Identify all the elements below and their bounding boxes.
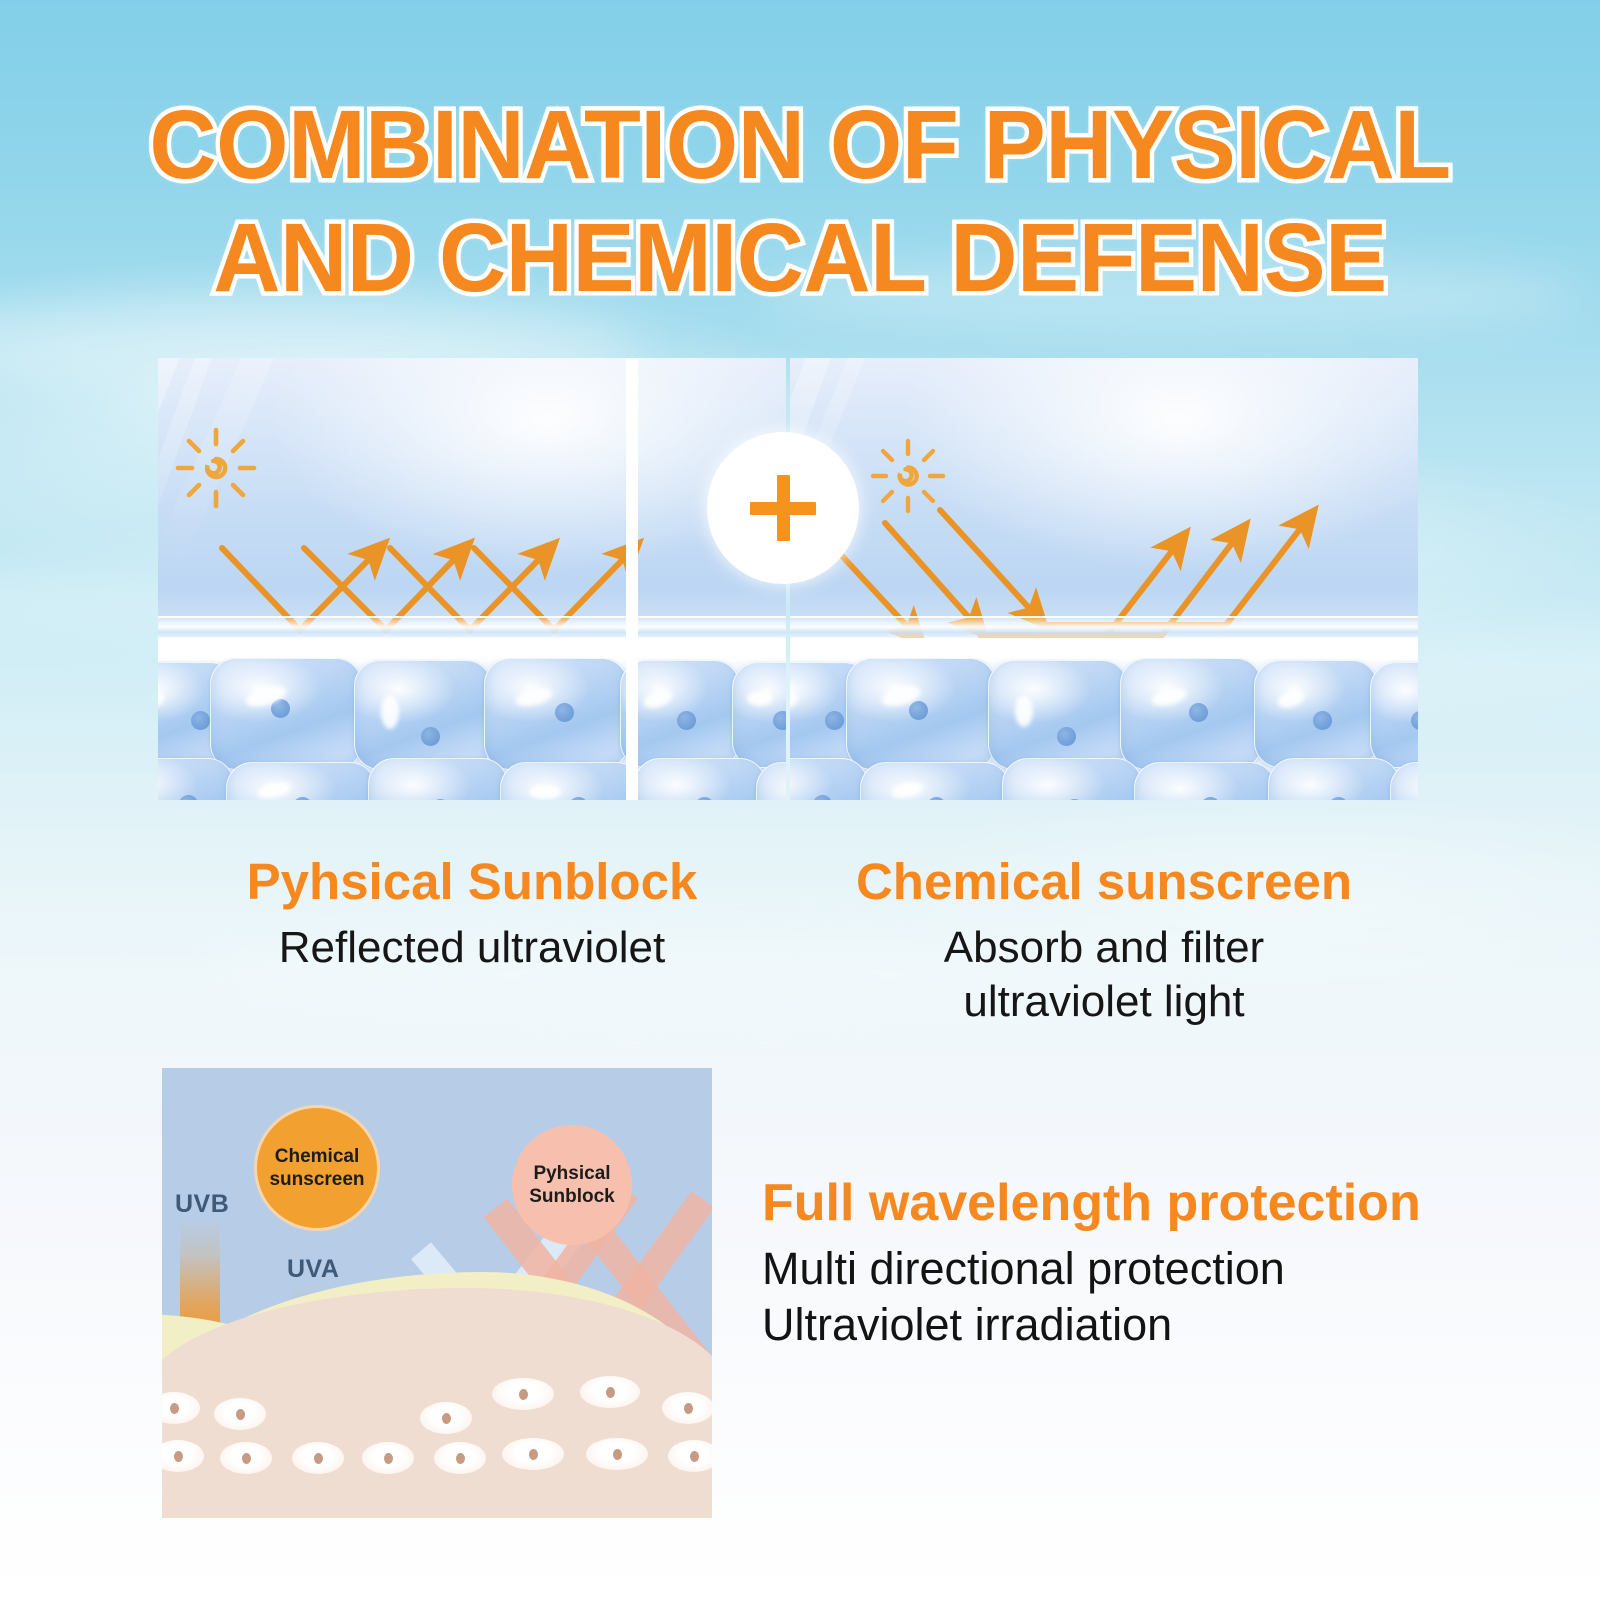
sunscreen-film-surface (158, 616, 786, 638)
dermis-cell (502, 1438, 564, 1470)
skin-cell (500, 762, 642, 800)
dermis-cell (668, 1440, 712, 1472)
skin-cell-layer (158, 658, 786, 800)
skin-cell (988, 660, 1128, 770)
page-title: COMBINATION OF PHYSICAL AND CHEMICAL DEF… (0, 96, 1600, 306)
uvb-label: UVB (175, 1190, 229, 1219)
film-gap (158, 638, 786, 660)
chemical-sunscreen-caption: Chemical sunscreen Absorb and filter ult… (790, 852, 1418, 1028)
chemical-sunscreen-panel (790, 358, 1418, 800)
dermis-cell (362, 1442, 414, 1474)
info-line-2: Ultraviolet irradiation (762, 1297, 1542, 1353)
dermis-cell (162, 1440, 204, 1472)
full-wavelength-info: Full wavelength protection Multi directi… (762, 1175, 1542, 1353)
skin-cell (1134, 762, 1276, 800)
physical-marker-line-1: Pyhsical (533, 1162, 610, 1185)
physical-sunblock-caption: Pyhsical Sunblock Reflected ultraviolet (158, 852, 786, 974)
physical-sunblock-marker: Pyhsical Sunblock (512, 1125, 632, 1245)
dermis-cell (292, 1442, 344, 1474)
skin-cell (634, 758, 766, 800)
dermis-cell (420, 1402, 472, 1434)
chemical-sunscreen-subtext-line-2: ultraviolet light (790, 976, 1418, 1028)
dermis-layer (162, 1368, 712, 1518)
skin-cell (732, 662, 786, 768)
plus-icon (750, 475, 816, 541)
chemical-sunscreen-marker: Chemical sunscreen (254, 1105, 380, 1231)
skin-cell (790, 758, 868, 800)
title-line-2: AND CHEMICAL DEFENSE (32, 209, 1568, 306)
skin-cell (368, 758, 508, 800)
skin-cell (860, 762, 1010, 800)
poster-root: COMBINATION OF PHYSICAL AND CHEMICAL DEF… (0, 0, 1600, 1600)
skin-cell-layer (790, 658, 1418, 800)
title-line-1: COMBINATION OF PHYSICAL (32, 96, 1568, 193)
skin-cell (484, 658, 628, 770)
skin-cell (1254, 660, 1378, 768)
film-gap (790, 638, 1418, 660)
skin-cell (226, 762, 376, 800)
skin-cell (1268, 758, 1400, 800)
dermis-cell (162, 1392, 200, 1424)
plus-badge (707, 432, 859, 584)
info-heading: Full wavelength protection (762, 1175, 1542, 1231)
physical-sunblock-panel (158, 358, 786, 800)
chemical-marker-line-1: Chemical (275, 1145, 359, 1168)
dermis-cell (580, 1376, 640, 1408)
dermis-cell (662, 1392, 712, 1424)
skin-cell (1002, 758, 1142, 800)
physical-marker-line-2: Sunblock (529, 1185, 615, 1208)
skin-cell (158, 758, 234, 800)
physical-sunblock-heading: Pyhsical Sunblock (158, 852, 786, 912)
physical-sunblock-subtext: Reflected ultraviolet (158, 922, 786, 974)
skin-cell (1370, 662, 1418, 768)
chemical-sunscreen-heading: Chemical sunscreen (790, 852, 1418, 912)
skin-cell (210, 658, 362, 770)
skin-cell (354, 660, 492, 770)
skin-cell (620, 660, 740, 768)
uv-penetration-diagram: Chemical sunscreen Pyhsical Sunblock UVB… (162, 1068, 712, 1518)
panel-divider (626, 358, 638, 800)
dermis-cell (492, 1378, 554, 1410)
skin-cell (846, 658, 996, 770)
dermis-cell (434, 1442, 486, 1474)
info-line-1: Multi directional protection (762, 1241, 1542, 1297)
sunscreen-film-surface (790, 616, 1418, 638)
sun-spiral-icon (178, 430, 254, 506)
sun-spiral-icon (873, 441, 943, 511)
dermis-cell (214, 1398, 266, 1430)
uva-label: UVA (287, 1255, 339, 1284)
chemical-marker-line-2: sunscreen (269, 1168, 364, 1191)
chemical-sunscreen-subtext-line-1: Absorb and filter (790, 922, 1418, 974)
skin-cell (1120, 658, 1262, 770)
dermis-cell (586, 1438, 648, 1470)
dermis-cell (220, 1442, 272, 1474)
